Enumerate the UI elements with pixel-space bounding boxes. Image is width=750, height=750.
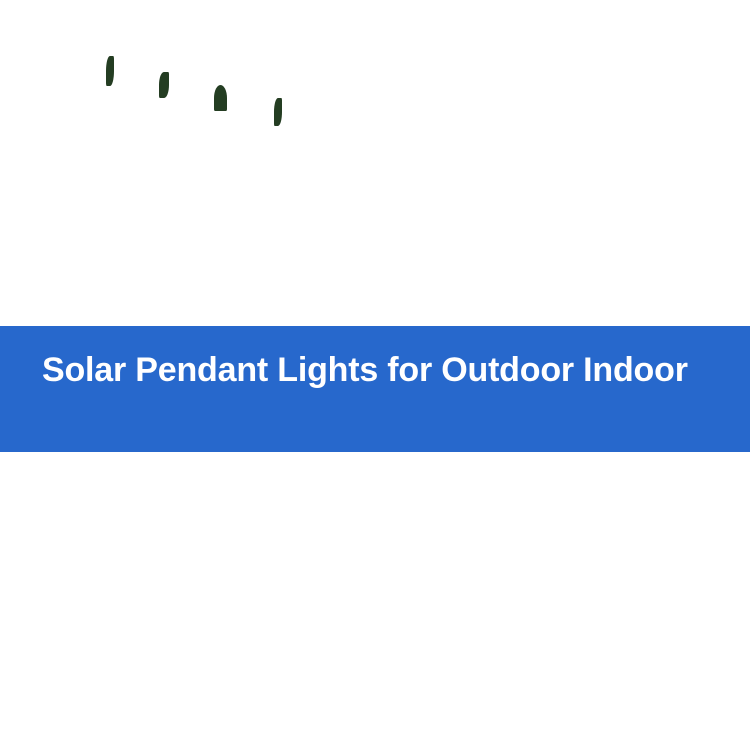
pedestrian-silhouette	[515, 706, 527, 742]
product-image: Solar Pendant Lights for Outdoor Indoor	[0, 0, 750, 750]
hillside-house-light	[704, 22, 720, 28]
pendant-cord	[450, 72, 452, 112]
pool-reflection	[460, 228, 478, 298]
pendant-cord	[406, 72, 408, 112]
crosswalk-stripe	[443, 731, 467, 736]
hillside-house-light	[722, 48, 734, 53]
pool-reflection	[592, 224, 614, 308]
pool-reflection	[500, 222, 520, 310]
shelf-object	[5, 140, 14, 158]
climbing-plant	[634, 600, 678, 658]
shelf-object	[4, 182, 18, 196]
product-headline-banner: Solar Pendant Lights for Outdoor Indoor	[0, 326, 750, 452]
striped-pillow	[235, 181, 282, 222]
framed-print-frond	[256, 82, 293, 132]
tree-trunk	[330, 472, 346, 702]
diamond-pattern-pillow	[127, 179, 171, 221]
climbing-plant	[608, 660, 664, 732]
table-bowl	[152, 268, 210, 281]
pendant-lamp-glow	[70, 485, 130, 498]
crosswalk-stripe	[407, 735, 433, 740]
pool-reflection	[376, 226, 392, 300]
sofa-arm-left	[60, 190, 94, 272]
framed-print-fern	[88, 42, 126, 92]
right-building-glass	[682, 96, 744, 190]
pendant-light-beam	[416, 124, 486, 180]
pool-reflection	[406, 224, 420, 306]
alley-road	[365, 670, 595, 750]
alley-window	[696, 648, 726, 692]
pendant-lamp-glow	[655, 485, 715, 498]
panel-night-alley-wall	[365, 452, 750, 750]
bookshelf	[0, 42, 36, 282]
swimming-pool	[350, 220, 750, 330]
alley-window	[628, 524, 654, 562]
panel-outdoor-poolside-patio	[350, 0, 750, 330]
pool-reflection	[556, 226, 572, 302]
framed-print-leaf	[142, 56, 179, 104]
shelf-object	[4, 54, 14, 68]
panel-night-garden-pathway	[0, 452, 420, 750]
panel-indoor-living-room	[0, 0, 410, 330]
product-headline: Solar Pendant Lights for Outdoor Indoor	[42, 342, 722, 398]
coffee-table-top	[124, 280, 236, 292]
shelf-object	[3, 96, 19, 112]
tree-trunk	[250, 452, 272, 702]
hillside-house-light	[678, 36, 688, 41]
framed-print-tree	[198, 68, 235, 118]
